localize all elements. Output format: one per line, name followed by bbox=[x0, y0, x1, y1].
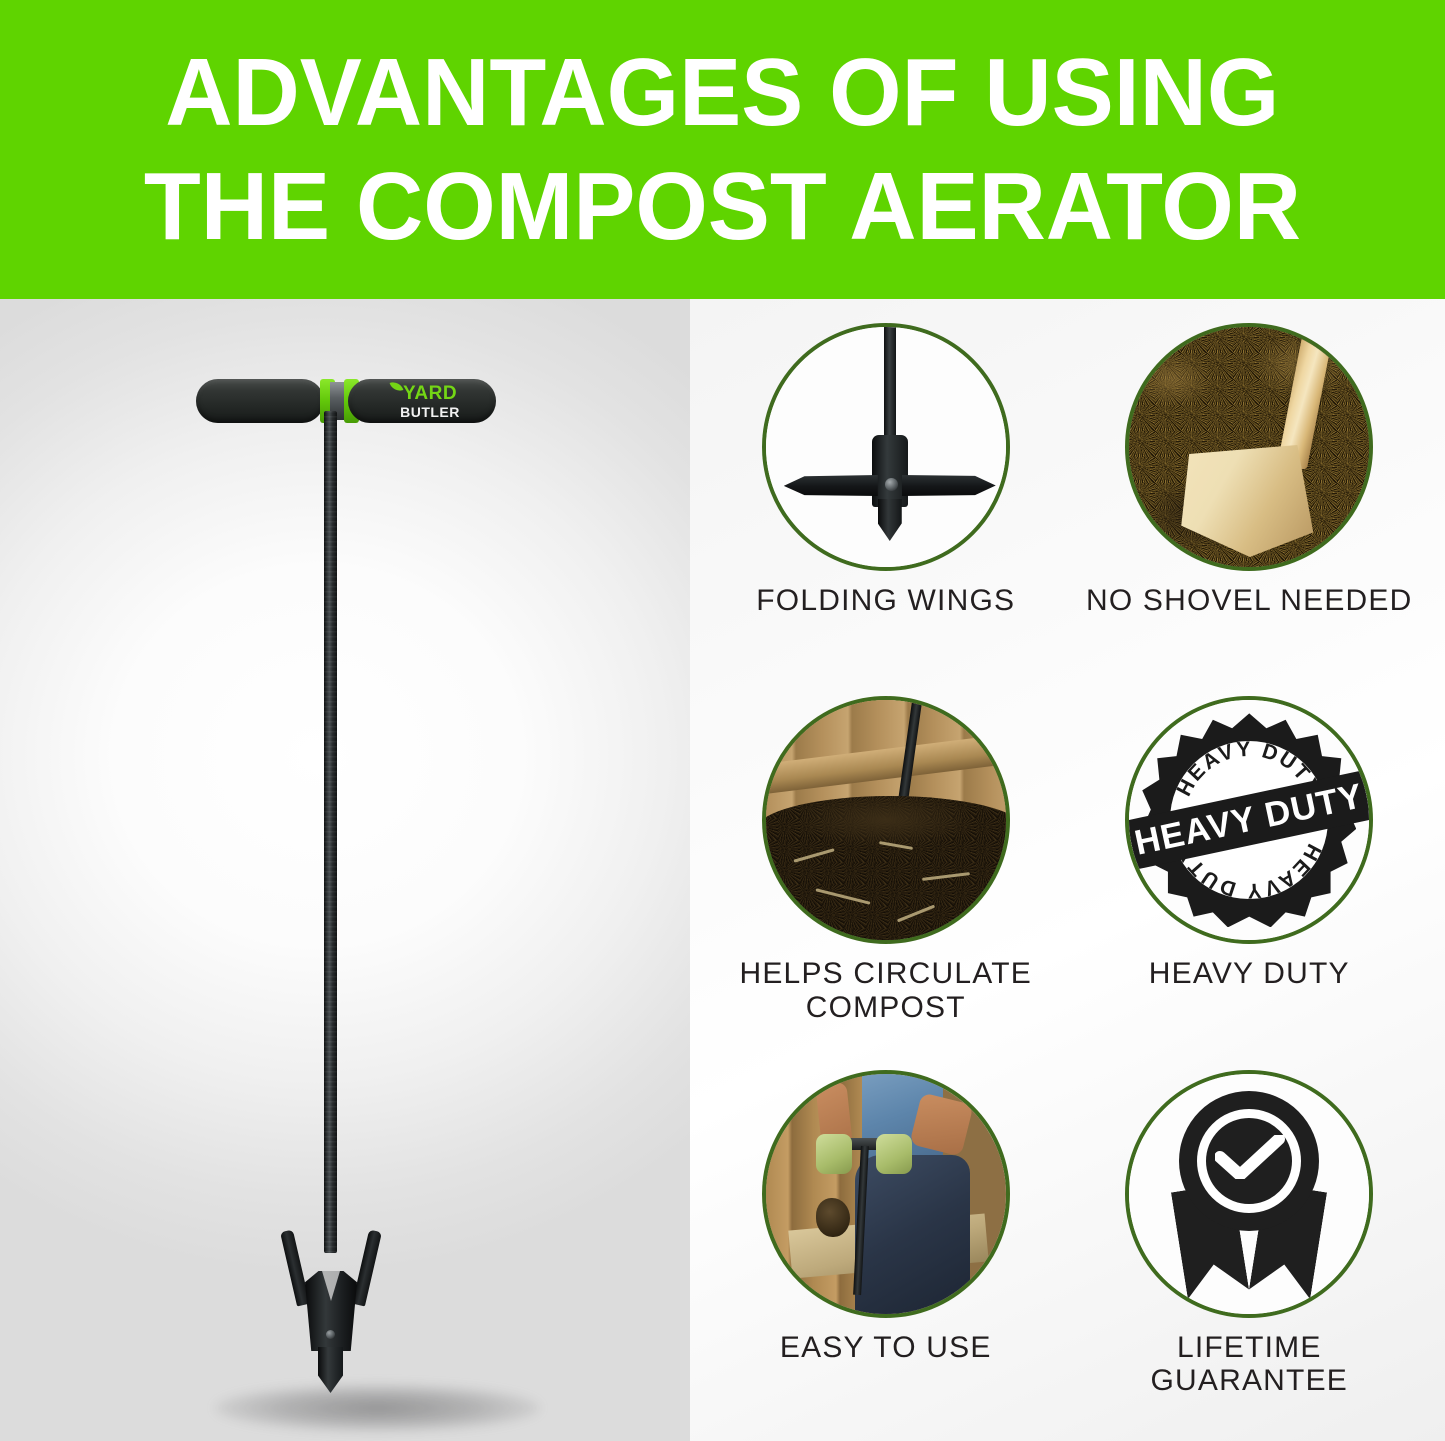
aerator-head-rivet bbox=[326, 1330, 335, 1339]
compost-pile-photo bbox=[766, 700, 1006, 940]
checkmark-icon bbox=[1215, 1135, 1285, 1179]
straw-strand bbox=[896, 905, 934, 923]
compost-mound bbox=[762, 796, 1010, 944]
feature-label-folding-wings: FOLDING WINGS bbox=[756, 584, 1015, 618]
straw-strand bbox=[922, 872, 970, 881]
feature-grid: FOLDING WINGS NO SHOVEL NEEDED bbox=[690, 299, 1445, 1441]
product-image-panel: YARD BUTLER bbox=[0, 299, 690, 1441]
person-using-aerator-photo bbox=[766, 1074, 1006, 1314]
feature-label-no-shovel-needed: NO SHOVEL NEEDED bbox=[1086, 584, 1413, 618]
feature-label-helps-circulate-compost: HELPS CIRCULATE COMPOST bbox=[721, 957, 1051, 1024]
heavy-duty-stamp-badge: HEAVY DUTY HEAVY DUTY HEAVY DUTY bbox=[1129, 700, 1369, 940]
aerator-head-group bbox=[284, 1229, 378, 1389]
straw-strand bbox=[794, 848, 835, 862]
page-title-line-2: THE COMPOST AERATOR bbox=[144, 150, 1301, 263]
feature-item-helps-circulate-compost: HELPS CIRCULATE COMPOST bbox=[704, 680, 1068, 1053]
feature-item-lifetime-guarantee: LIFETIME GUARANTEE bbox=[1068, 1054, 1432, 1427]
dirt-clump bbox=[816, 1198, 850, 1236]
blue-jeans bbox=[855, 1155, 970, 1317]
feature-image-no-shovel-needed bbox=[1125, 323, 1373, 571]
product-drop-shadow bbox=[215, 1384, 540, 1432]
straw-strand bbox=[815, 888, 870, 904]
spike-tip-icon bbox=[878, 499, 902, 541]
shaft-icon bbox=[884, 323, 896, 445]
feature-image-easy-to-use bbox=[762, 1070, 1010, 1318]
garden-glove-right bbox=[876, 1134, 912, 1175]
brand-name-secondary: BUTLER bbox=[382, 405, 478, 419]
shaft-texture bbox=[324, 411, 337, 1253]
feature-label-lifetime-guarantee: LIFETIME GUARANTEE bbox=[1084, 1331, 1414, 1398]
feature-item-heavy-duty: HEAVY DUTY HEAVY DUTY HEAVY DUTY HEAVY D… bbox=[1068, 680, 1432, 1053]
shovel-blade-icon bbox=[1181, 445, 1313, 557]
rosette-badge-icon bbox=[1155, 1091, 1343, 1297]
page-title: ADVANTAGES OF USING THE COMPOST AERATOR bbox=[0, 0, 1445, 299]
wing-blade-right-icon bbox=[902, 475, 996, 496]
page-title-line-1: ADVANTAGES OF USING bbox=[165, 36, 1279, 149]
folding-wing-right bbox=[352, 1229, 382, 1306]
brand-logo: YARD BUTLER bbox=[382, 384, 478, 420]
garden-glove-left bbox=[816, 1134, 852, 1175]
feature-item-folding-wings: FOLDING WINGS bbox=[704, 307, 1068, 680]
folding-wings-photo bbox=[766, 327, 1006, 567]
wing-blade-left-icon bbox=[784, 475, 878, 496]
feature-image-heavy-duty: HEAVY DUTY HEAVY DUTY HEAVY DUTY bbox=[1125, 696, 1373, 944]
t-handle-group: YARD BUTLER bbox=[196, 375, 496, 427]
straw-strand bbox=[879, 841, 913, 850]
feature-image-lifetime-guarantee bbox=[1125, 1070, 1373, 1318]
handle-grip-left bbox=[196, 379, 324, 423]
feature-image-helps-circulate-compost bbox=[762, 696, 1010, 944]
feature-item-no-shovel-needed: NO SHOVEL NEEDED bbox=[1068, 307, 1432, 680]
feature-label-easy-to-use: EASY TO USE bbox=[780, 1331, 992, 1365]
folding-wing-left bbox=[280, 1229, 310, 1306]
tool-shaft bbox=[324, 411, 337, 1253]
feature-image-folding-wings bbox=[762, 323, 1010, 571]
feature-label-heavy-duty: HEAVY DUTY bbox=[1149, 957, 1350, 991]
aerator-spike-tip bbox=[318, 1347, 343, 1393]
lifetime-guarantee-badge bbox=[1129, 1074, 1369, 1314]
header-banner: ADVANTAGES OF USING THE COMPOST AERATOR bbox=[0, 0, 1445, 299]
shovel-in-soil-photo bbox=[1129, 327, 1369, 567]
pivot-rivet-icon bbox=[885, 478, 898, 491]
feature-item-easy-to-use: EASY TO USE bbox=[704, 1054, 1068, 1427]
wing-hub-icon bbox=[872, 435, 908, 507]
